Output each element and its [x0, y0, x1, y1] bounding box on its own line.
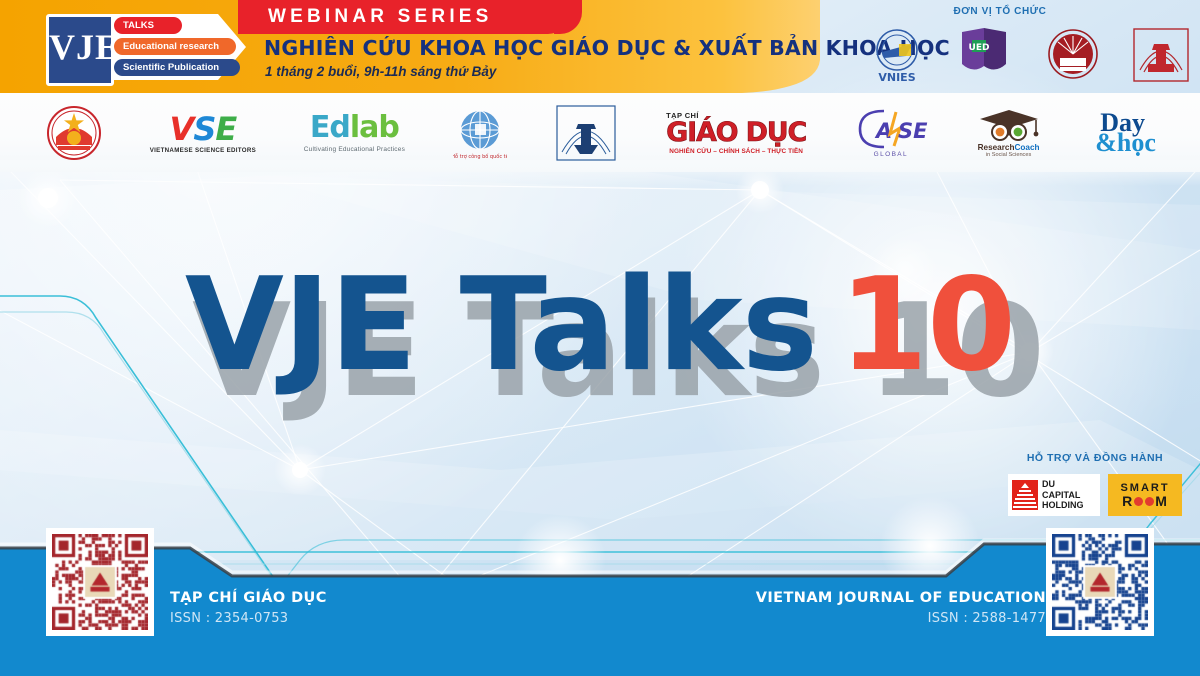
vse-caption: VIETNAMESE SCIENCE EDITORS [150, 147, 256, 154]
du-capital-line3: HOLDING [1042, 500, 1084, 511]
du-capital-logo[interactable]: DU CAPITAL HOLDING [1008, 474, 1100, 516]
vje-pill-scientific-publication: Scientific Publication [114, 59, 240, 76]
university-seal-logo[interactable] [554, 104, 618, 162]
moet-emblem-logo[interactable] [46, 104, 102, 162]
organizers-row: VNIES UED [866, 24, 1192, 86]
organizers-label: ĐƠN VỊ TỔ CHỨC [930, 6, 1070, 17]
dayhoc-line2: &học [1095, 130, 1156, 156]
support-partners-row: DU CAPITAL HOLDING SMART RM [1000, 472, 1190, 518]
researchcoach-wordmark: ResearchCoach [978, 143, 1040, 152]
header-eyebrow: WEBINAR SERIES [268, 6, 493, 28]
footer-left-info: TẠP CHÍ GIÁO DỤC ISSN : 2354-0753 [170, 590, 327, 626]
sponsors-strip: VSE VIETNAMESE SCIENCE EDITORS Edlab Cul… [46, 102, 1156, 164]
smartroom-dot-1 [1134, 497, 1143, 506]
main-title-red: 10 [839, 251, 1015, 400]
vje-logo-mark: VJE [46, 14, 114, 86]
footer-right-name: VIETNAM JOURNAL OF EDUCATION [756, 590, 1046, 606]
main-title: VJE Talks 10 VJE Talks10 [0, 262, 1200, 412]
qr-code-tap-chi-giao-duc [52, 534, 148, 630]
avse-caption: GLOBAL [874, 151, 908, 158]
globe-logo[interactable]: Hỗ trợ công bố quốc tế [453, 104, 507, 162]
edlab-logo[interactable]: Edlab Cultivating Educational Practices [304, 104, 405, 162]
footer-left-issn: ISSN : 2354-0753 [170, 611, 327, 626]
dayhoc-logo[interactable]: Day &học [1089, 104, 1156, 162]
du-capital-icon [1012, 480, 1038, 510]
vje-pill-talks: TALKS [114, 17, 182, 34]
vje-pill-educational-research: Educational research [114, 38, 236, 55]
vnies-logo[interactable]: VNIES [866, 26, 928, 84]
giaoduc-caption: NGHIÊN CỨU – CHÍNH SÁCH – THỰC TIỄN [669, 148, 803, 155]
header-subtitle: 1 tháng 2 buổi, 9h-11h sáng thứ Bảy [265, 64, 496, 79]
vse-logo[interactable]: VSE VIETNAMESE SCIENCE EDITORS [150, 104, 256, 162]
poster-canvas: VJE TALKS Educational research Scientifi… [0, 0, 1200, 676]
vje-logo[interactable]: VJE TALKS Educational research Scientifi… [46, 14, 246, 80]
smartroom-line2: RM [1122, 494, 1168, 508]
svg-text:SE: SE [898, 119, 928, 143]
researchcoach-logo[interactable]: ResearchCoach in Social Sciences [976, 104, 1042, 162]
svg-text:UED: UED [969, 43, 990, 53]
smartroom-dot-2 [1145, 497, 1154, 506]
qr-code-right[interactable] [1046, 528, 1154, 636]
vje-journal-logo[interactable] [1130, 26, 1192, 84]
edlab-wordmark: Edlab [310, 113, 399, 143]
support-label: HỖ TRỢ VÀ ĐỒNG HÀNH [1000, 452, 1190, 464]
du-capital-wordmark: DU CAPITAL HOLDING [1042, 479, 1084, 511]
du-capital-line2: CAPITAL [1042, 490, 1084, 501]
hnue-logo[interactable] [1042, 26, 1104, 84]
researchcoach-caption: in Social Sciences [986, 152, 1031, 158]
ued-logo[interactable]: UED [954, 26, 1016, 84]
svg-text:Hỗ trợ công bố quốc tế: Hỗ trợ công bố quốc tế [453, 153, 507, 160]
vse-wordmark: VSE [170, 113, 237, 145]
giaoduc-logo[interactable]: TẠP CHÍ GIÁO DỤC NGHIÊN CỨU – CHÍNH SÁCH… [666, 104, 806, 162]
du-capital-line1: DU [1042, 479, 1084, 490]
qr-code-left[interactable] [46, 528, 154, 636]
svg-text:VNIES: VNIES [878, 71, 915, 84]
giaoduc-wordmark: GIÁO DỤC [666, 120, 806, 146]
avse-global-logo[interactable]: A SE GLOBAL [854, 104, 928, 162]
qr-code-vietnam-journal-of-education [1052, 534, 1148, 630]
header-title: NGHIÊN CỨU KHOA HỌC GIÁO DỤC & XUẤT BẢN … [264, 36, 950, 60]
main-title-text: VJE Talks10 [0, 262, 1200, 390]
edlab-caption: Cultivating Educational Practices [304, 146, 405, 153]
footer-left-name: TẠP CHÍ GIÁO DỤC [170, 590, 327, 606]
main-title-blue: VJE Talks [185, 251, 817, 400]
smartroom-logo[interactable]: SMART RM [1108, 474, 1182, 516]
footer-right-issn: ISSN : 2588-1477 [756, 611, 1046, 626]
footer-right-info: VIETNAM JOURNAL OF EDUCATION ISSN : 2588… [756, 590, 1046, 626]
